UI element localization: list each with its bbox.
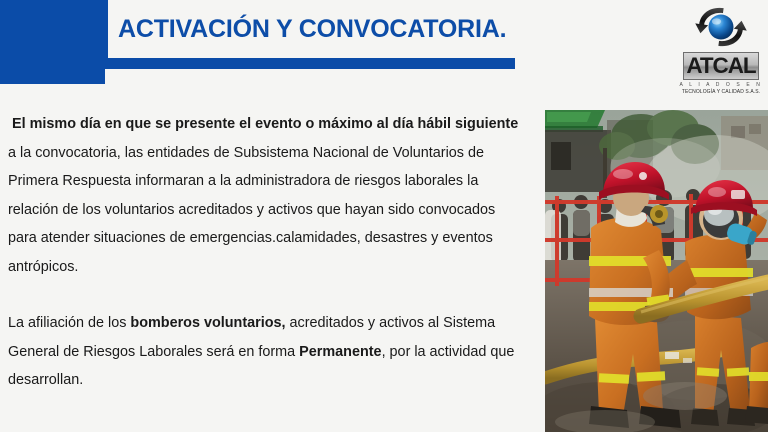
paragraph-two-part-1: La afiliación de los [8, 315, 130, 331]
header-horizontal-rule [104, 58, 515, 69]
logo-tagline-tecnologia: TECNOLOGÍA Y CALIDAD S.A.S. [682, 89, 760, 95]
paragraph-two: La afiliación de los bomberos voluntario… [8, 309, 520, 395]
paragraph-two-bold-permanente: Permanente [299, 344, 381, 360]
paragraph-one-bold-lead: El mismo día en que se presente el event… [12, 116, 518, 132]
body-copy: El mismo día en que se presente el event… [8, 110, 520, 395]
atcal-logo: ATCAL A L I A D O S E N TECNOLOGÍA Y CAL… [682, 4, 760, 104]
atcal-wordmark: ATCAL [683, 52, 759, 80]
header-vertical-rule [104, 0, 108, 60]
slide: ACTIVACIÓN Y CONVOCATORIA. [0, 0, 768, 432]
paragraph-one: El mismo día en que se presente el event… [8, 110, 520, 281]
logo-tagline-aliados: A L I A D O S E N [680, 82, 763, 88]
paragraph-one-rest: a la convocatoria, las entidades de Subs… [8, 145, 495, 275]
header-accent-block [0, 0, 105, 84]
paragraph-two-bold-bomberos: bomberos voluntarios, [130, 315, 285, 331]
firefighters-photo [545, 110, 768, 432]
paragraph-spacer [8, 281, 520, 309]
page-title: ACTIVACIÓN Y CONVOCATORIA. [118, 13, 658, 45]
atcal-sphere-arrows-icon [694, 4, 748, 50]
atcal-wordmark-text: ATCAL [686, 55, 755, 77]
